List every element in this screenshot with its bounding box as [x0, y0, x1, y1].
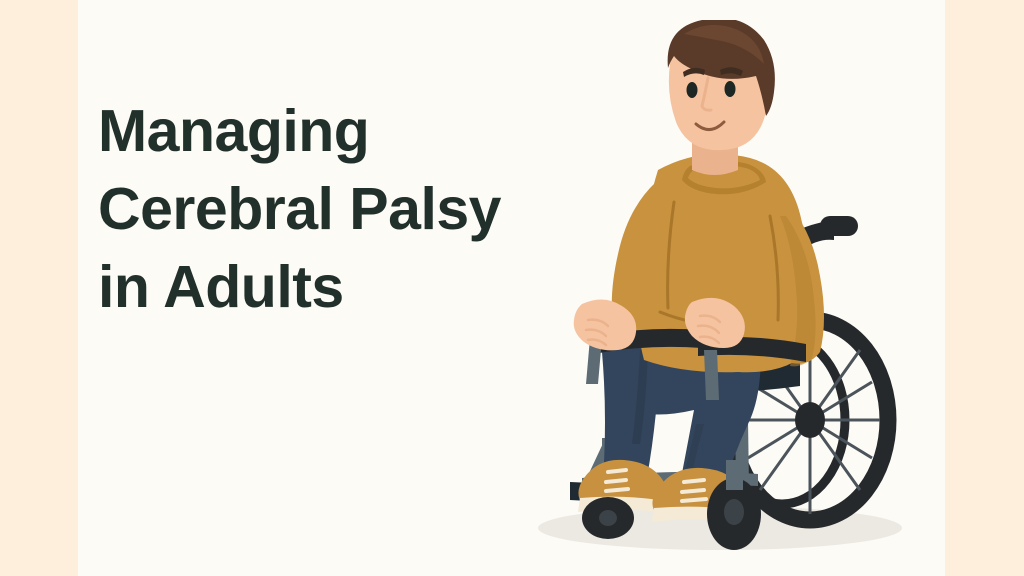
decorative-band-left	[0, 0, 78, 576]
man-in-wheelchair-illustration	[498, 20, 928, 565]
head-icon	[668, 20, 775, 150]
content-stage: Managing Cerebral Palsy in Adults	[78, 0, 945, 576]
decorative-band-right	[945, 0, 1024, 576]
slide-canvas: Managing Cerebral Palsy in Adults	[0, 0, 1024, 576]
